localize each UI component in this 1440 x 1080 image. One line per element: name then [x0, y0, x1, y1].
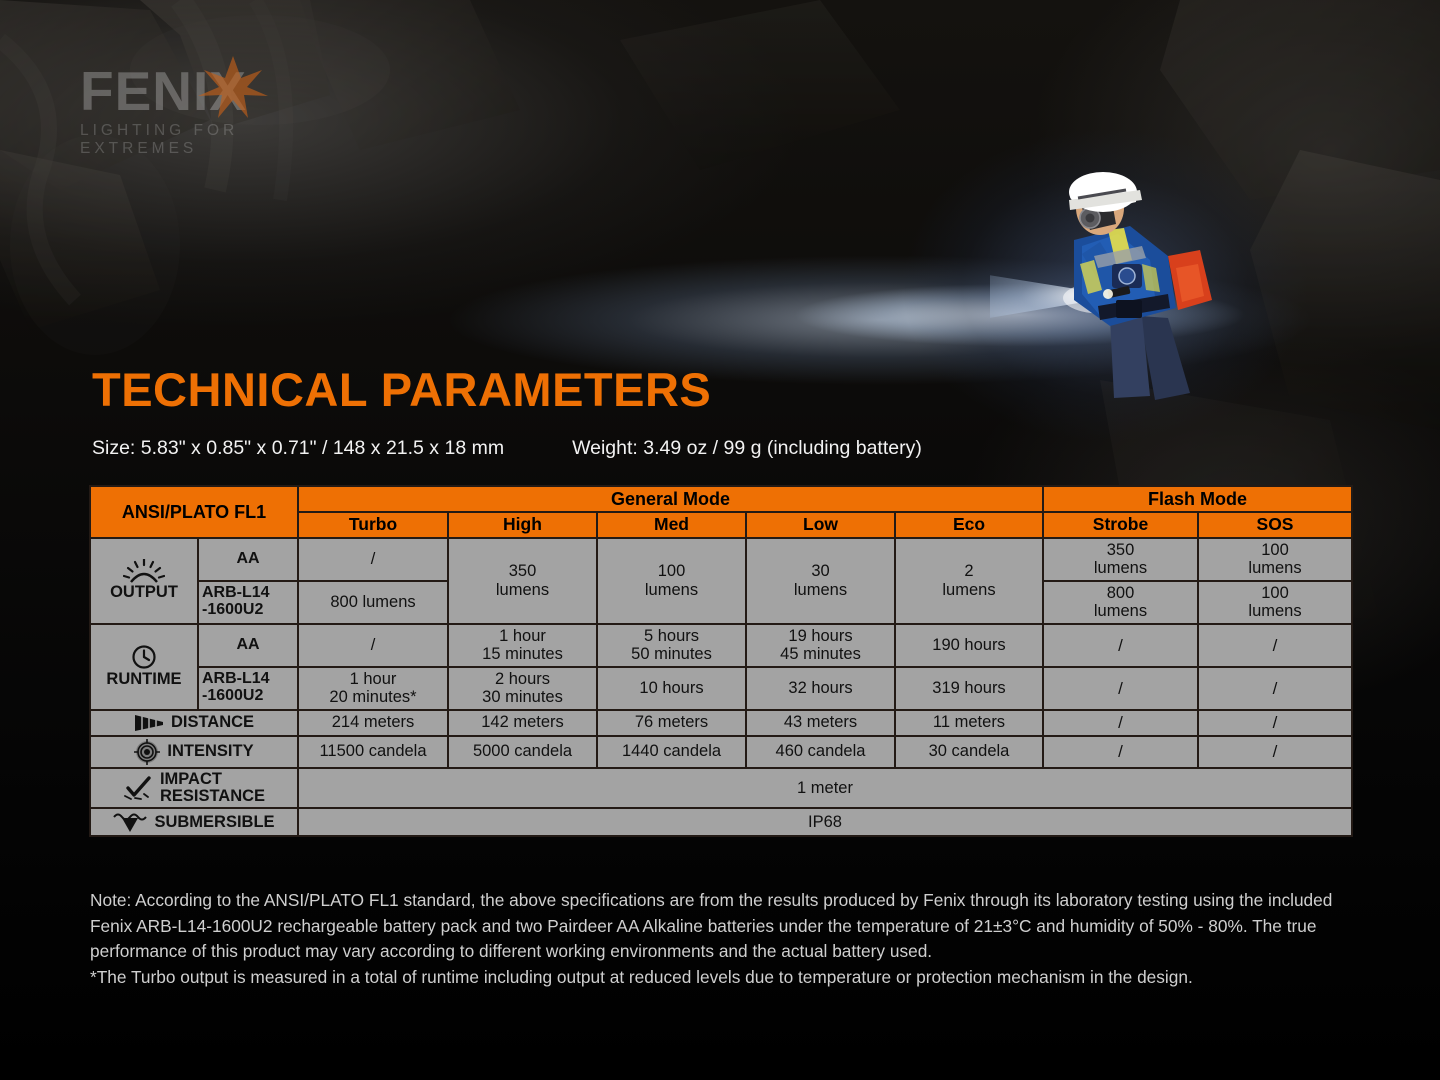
runtime-aa-med: 5 hours 50 minutes: [597, 624, 746, 667]
runtime-aa-med-l2: 50 minutes: [631, 645, 712, 663]
page-title: TECHNICAL PARAMETERS: [92, 362, 711, 417]
row-label-runtime: RUNTIME: [90, 624, 198, 710]
row-label-submersible: SUBMERSIBLE: [90, 808, 298, 836]
output-high: 350 lumens: [448, 538, 597, 624]
output-aa-sos-unit: lumens: [1248, 559, 1301, 577]
output-arb-strobe-unit: lumens: [1094, 602, 1147, 620]
table-row-intensity: INTENSITY 11500 candela 5000 candela 144…: [90, 736, 1352, 768]
intensity-high: 5000 candela: [448, 736, 597, 768]
table-row-output-aa: OUTPUT AA / 350 lumens 100 lumens 30 lum…: [90, 538, 1352, 581]
spec-table: ANSI/PLATO FL1 General Mode Flash Mode T…: [89, 485, 1353, 837]
distance-strobe: /: [1043, 710, 1198, 736]
row-label-distance: DISTANCE: [90, 710, 298, 736]
submersible-value: IP68: [298, 808, 1352, 836]
output-arb-turbo: 800 lumens: [298, 581, 448, 624]
table-header-row-groups: ANSI/PLATO FL1 General Mode Flash Mode: [90, 486, 1352, 512]
table-row-runtime-aa: RUNTIME AA / 1 hour 15 minutes 5 hours 5…: [90, 624, 1352, 667]
intensity-target-icon: [134, 739, 160, 765]
runtime-aa-low-l1: 19 hours: [788, 627, 852, 645]
row-label-output-text: OUTPUT: [110, 583, 178, 601]
output-aa-sos: 100 lumens: [1198, 538, 1352, 581]
runtime-arb-eco: 319 hours: [895, 667, 1043, 710]
runtime-aa-high-l2: 15 minutes: [482, 645, 563, 663]
intensity-eco: 30 candela: [895, 736, 1043, 768]
row-label-distance-text: DISTANCE: [171, 713, 254, 731]
output-eco: 2 lumens: [895, 538, 1043, 624]
impact-resistance-value: 1 meter: [298, 768, 1352, 809]
runtime-arb-turbo-l2: 20 minutes*: [329, 688, 416, 706]
size-text: Size: 5.83" x 0.85" x 0.71" / 148 x 21.5…: [92, 437, 504, 459]
runtime-aa-high: 1 hour 15 minutes: [448, 624, 597, 667]
intensity-med: 1440 candela: [597, 736, 746, 768]
output-aa-strobe: 350 lumens: [1043, 538, 1198, 581]
miner-photo: [990, 168, 1242, 403]
battery-label-aa-runtime: AA: [198, 624, 298, 667]
spec-line: Size: 5.83" x 0.85" x 0.71" / 148 x 21.5…: [92, 437, 922, 460]
row-label-submersible-text: SUBMERSIBLE: [154, 813, 274, 831]
runtime-arb-high: 2 hours 30 minutes: [448, 667, 597, 710]
row-label-impact-resistance: IMPACT RESISTANCE: [90, 768, 298, 809]
distance-eco: 11 meters: [895, 710, 1043, 736]
footnote-turbo: *The Turbo output is measured in a total…: [90, 965, 1362, 991]
output-aa-strobe-unit: lumens: [1094, 559, 1147, 577]
battery-arb-runtime-line1: ARB-L14: [202, 670, 270, 687]
output-aa-sos-value: 100: [1261, 541, 1289, 559]
output-aa-turbo: /: [298, 538, 448, 581]
output-med: 100 lumens: [597, 538, 746, 624]
row-label-intensity-text: INTENSITY: [167, 742, 253, 760]
header-ansi-plato: ANSI/PLATO FL1: [90, 486, 298, 538]
footnote-block: Note: According to the ANSI/PLATO FL1 st…: [90, 888, 1362, 990]
technical-parameters-table: ANSI/PLATO FL1 General Mode Flash Mode T…: [89, 485, 1351, 837]
runtime-arb-turbo-l1: 1 hour: [350, 670, 397, 688]
logo-tagline: LIGHTING FOR EXTREMES: [80, 122, 350, 158]
output-high-value: 350: [509, 562, 537, 580]
impact-check-icon: [123, 775, 153, 801]
fenix-star-icon: [188, 56, 278, 120]
beam-distance-icon: [134, 713, 164, 733]
battery-label-arb-output: ARB-L14 -1600U2: [198, 581, 298, 624]
row-label-impact-line2: RESISTANCE: [160, 787, 265, 805]
header-mode-strobe: Strobe: [1043, 512, 1198, 538]
row-label-output: OUTPUT: [90, 538, 198, 624]
battery-label-arb-runtime: ARB-L14 -1600U2: [198, 667, 298, 710]
runtime-aa-low: 19 hours 45 minutes: [746, 624, 895, 667]
header-mode-high: High: [448, 512, 597, 538]
table-row-runtime-arb: ARB-L14 -1600U2 1 hour 20 minutes* 2 hou…: [90, 667, 1352, 710]
intensity-sos: /: [1198, 736, 1352, 768]
header-mode-turbo: Turbo: [298, 512, 448, 538]
fenix-logo: FENIX LIGHTING FOR EXTREMES: [80, 62, 350, 148]
battery-label-aa-output: AA: [198, 538, 298, 581]
output-med-unit: lumens: [645, 581, 698, 599]
output-aa-strobe-value: 350: [1107, 541, 1135, 559]
runtime-aa-med-l1: 5 hours: [644, 627, 699, 645]
runtime-arb-high-l2: 30 minutes: [482, 688, 563, 706]
row-label-runtime-text: RUNTIME: [106, 670, 181, 688]
header-flash-mode: Flash Mode: [1043, 486, 1352, 512]
output-eco-unit: lumens: [942, 581, 995, 599]
battery-arb-runtime-line2: -1600U2: [202, 687, 263, 704]
output-arb-sos-unit: lumens: [1248, 602, 1301, 620]
runtime-aa-low-l2: 45 minutes: [780, 645, 861, 663]
header-mode-med: Med: [597, 512, 746, 538]
output-med-value: 100: [658, 562, 686, 580]
distance-turbo: 214 meters: [298, 710, 448, 736]
runtime-arb-sos: /: [1198, 667, 1352, 710]
output-low-unit: lumens: [794, 581, 847, 599]
header-mode-low: Low: [746, 512, 895, 538]
output-arb-sos: 100 lumens: [1198, 581, 1352, 624]
row-label-impact-line1: IMPACT: [160, 770, 222, 788]
runtime-aa-high-l1: 1 hour: [499, 627, 546, 645]
runtime-arb-high-l1: 2 hours: [495, 670, 550, 688]
header-mode-sos: SOS: [1198, 512, 1352, 538]
intensity-strobe: /: [1043, 736, 1198, 768]
runtime-arb-turbo: 1 hour 20 minutes*: [298, 667, 448, 710]
runtime-arb-strobe: /: [1043, 667, 1198, 710]
distance-med: 76 meters: [597, 710, 746, 736]
runtime-aa-sos: /: [1198, 624, 1352, 667]
distance-low: 43 meters: [746, 710, 895, 736]
table-row-distance: DISTANCE 214 meters 142 meters 76 meters…: [90, 710, 1352, 736]
output-high-unit: lumens: [496, 581, 549, 599]
distance-sos: /: [1198, 710, 1352, 736]
runtime-aa-strobe: /: [1043, 624, 1198, 667]
submersible-water-icon: [113, 811, 147, 833]
header-mode-eco: Eco: [895, 512, 1043, 538]
distance-high: 142 meters: [448, 710, 597, 736]
runtime-arb-low: 32 hours: [746, 667, 895, 710]
runtime-aa-turbo: /: [298, 624, 448, 667]
clock-icon: [131, 644, 157, 670]
intensity-low: 460 candela: [746, 736, 895, 768]
output-eco-value: 2: [964, 562, 973, 580]
header-general-mode: General Mode: [298, 486, 1043, 512]
output-arb-strobe: 800 lumens: [1043, 581, 1198, 624]
row-label-intensity: INTENSITY: [90, 736, 298, 768]
battery-arb-line2: -1600U2: [202, 601, 263, 618]
table-row-submersible: SUBMERSIBLE IP68: [90, 808, 1352, 836]
table-row-impact-resistance: IMPACT RESISTANCE 1 meter: [90, 768, 1352, 809]
runtime-aa-eco: 190 hours: [895, 624, 1043, 667]
footnote-main: Note: According to the ANSI/PLATO FL1 st…: [90, 888, 1362, 965]
sun-burst-icon: [123, 559, 165, 583]
runtime-arb-med: 10 hours: [597, 667, 746, 710]
output-low-value: 30: [811, 562, 829, 580]
intensity-turbo: 11500 candela: [298, 736, 448, 768]
weight-text: Weight: 3.49 oz / 99 g (including batter…: [572, 437, 922, 459]
output-arb-strobe-value: 800: [1107, 584, 1135, 602]
output-arb-sos-value: 100: [1261, 584, 1289, 602]
output-low: 30 lumens: [746, 538, 895, 624]
battery-arb-line1: ARB-L14: [202, 584, 270, 601]
